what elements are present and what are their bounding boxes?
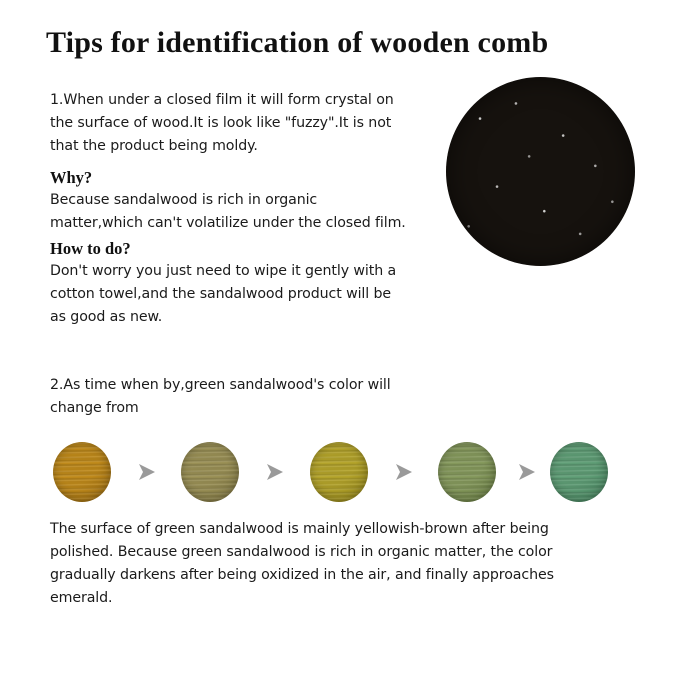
text-line: 2.As time when by,green sandalwood's col… — [50, 374, 470, 397]
swatch-shading — [53, 442, 111, 502]
text-line: as good as new. — [50, 306, 460, 329]
color-swatch-yellow-olive — [310, 442, 368, 502]
text-line: Don't worry you just need to wipe it gen… — [50, 260, 460, 283]
paragraph-item-2: 2.As time when by,green sandalwood's col… — [50, 374, 470, 420]
text-line: matter,which can't volatilize under the … — [50, 212, 470, 235]
text-line: 1.When under a closed film it will form … — [50, 89, 450, 112]
color-swatch-green-olive — [438, 442, 496, 502]
text-line: that the product being moldy. — [50, 135, 450, 158]
text-line: Because sandalwood is rich in organic — [50, 189, 470, 212]
color-swatch-emerald-green — [550, 442, 608, 502]
comb-teeth-photo — [446, 77, 635, 266]
paragraph-how-to-do: Don't worry you just need to wipe it gen… — [50, 260, 460, 329]
color-progression-row — [50, 440, 630, 504]
page-canvas: Tips for identification of wooden comb 1… — [0, 0, 679, 679]
swatch-shading — [310, 442, 368, 502]
text-line: gradually darkens after being oxidized i… — [50, 564, 630, 587]
swatch-shading — [550, 442, 608, 502]
paragraph-item-1: 1.When under a closed film it will form … — [50, 89, 450, 158]
page-title: Tips for identification of wooden comb — [46, 26, 548, 60]
text-line: emerald. — [50, 587, 630, 610]
paragraph-why: Because sandalwood is rich in organic ma… — [50, 189, 470, 235]
chevron-right-arrow-icon — [136, 461, 158, 483]
heading-how-to-do: How to do? — [50, 239, 131, 259]
text-line: the surface of wood.It is look like "fuz… — [50, 112, 450, 135]
chevron-right-arrow-icon — [264, 461, 286, 483]
paragraph-conclusion: The surface of green sandalwood is mainl… — [50, 518, 630, 610]
chevron-right-arrow-icon — [393, 461, 415, 483]
text-line: cotton towel,and the sandalwood product … — [50, 283, 460, 306]
chevron-right-arrow-icon — [516, 461, 538, 483]
text-line: The surface of green sandalwood is mainl… — [50, 518, 630, 541]
text-line: polished. Because green sandalwood is ri… — [50, 541, 630, 564]
color-swatch-olive-khaki — [181, 442, 239, 502]
text-line: change from — [50, 397, 470, 420]
swatch-shading — [181, 442, 239, 502]
photo-vignette — [446, 77, 635, 266]
heading-why: Why? — [50, 168, 92, 188]
swatch-shading — [438, 442, 496, 502]
color-swatch-golden-brown — [53, 442, 111, 502]
